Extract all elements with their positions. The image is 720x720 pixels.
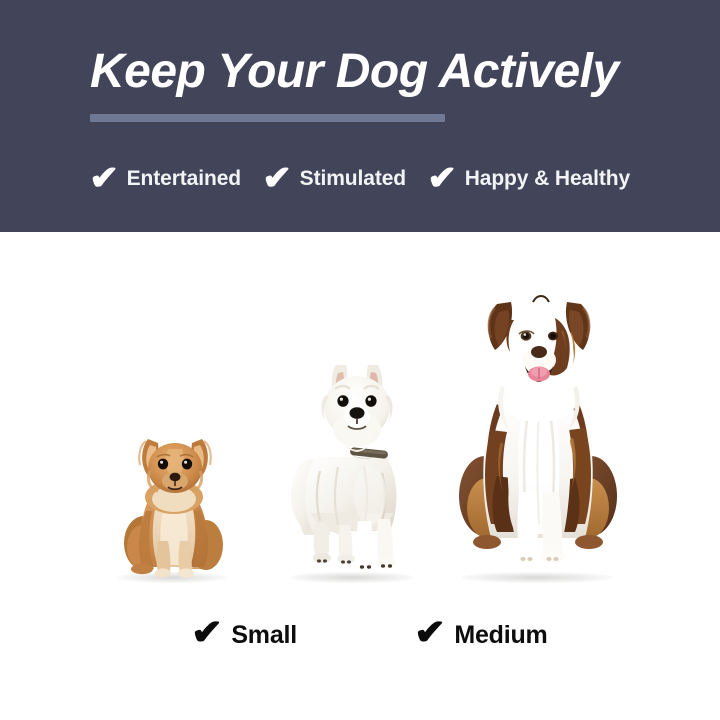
checkmark-icon: ✔: [427, 161, 456, 194]
poster-canvas: Keep Your Dog Actively ✔ Entertained ✔ S…: [0, 0, 720, 720]
benefit-item-entertained: ✔ Entertained: [79, 163, 252, 196]
size-labels-row: ✔ Small ✔ Medium: [0, 612, 720, 674]
size-label: Medium: [454, 621, 547, 650]
header-band: Keep Your Dog Actively ✔ Entertained ✔ S…: [0, 0, 720, 232]
checkmark-icon: ✔: [89, 161, 118, 194]
page-title: Keep Your Dog Actively: [90, 47, 619, 97]
benefit-label: Stimulated: [300, 167, 406, 191]
benefit-label: Happy & Healthy: [465, 167, 630, 191]
title-underline-rule: [90, 114, 445, 122]
checkmark-icon: ✔: [262, 161, 291, 194]
large-dog-image: [457, 280, 619, 580]
benefit-item-happy-healthy: ✔ Happy & Healthy: [417, 163, 641, 196]
size-item-medium: ✔ Medium: [415, 618, 548, 653]
checkmark-icon: ✔: [414, 615, 445, 650]
benefit-label: Entertained: [127, 167, 241, 191]
size-item-small: ✔ Small: [192, 618, 297, 653]
benefit-item-stimulated: ✔ Stimulated: [252, 163, 417, 196]
checkmark-icon: ✔: [191, 615, 222, 650]
small-dog-image: [118, 415, 228, 580]
size-label: Small: [231, 621, 297, 650]
medium-dog-image: [286, 345, 418, 580]
benefits-row: ✔ Entertained ✔ Stimulated ✔ Happy & Hea…: [0, 156, 720, 202]
